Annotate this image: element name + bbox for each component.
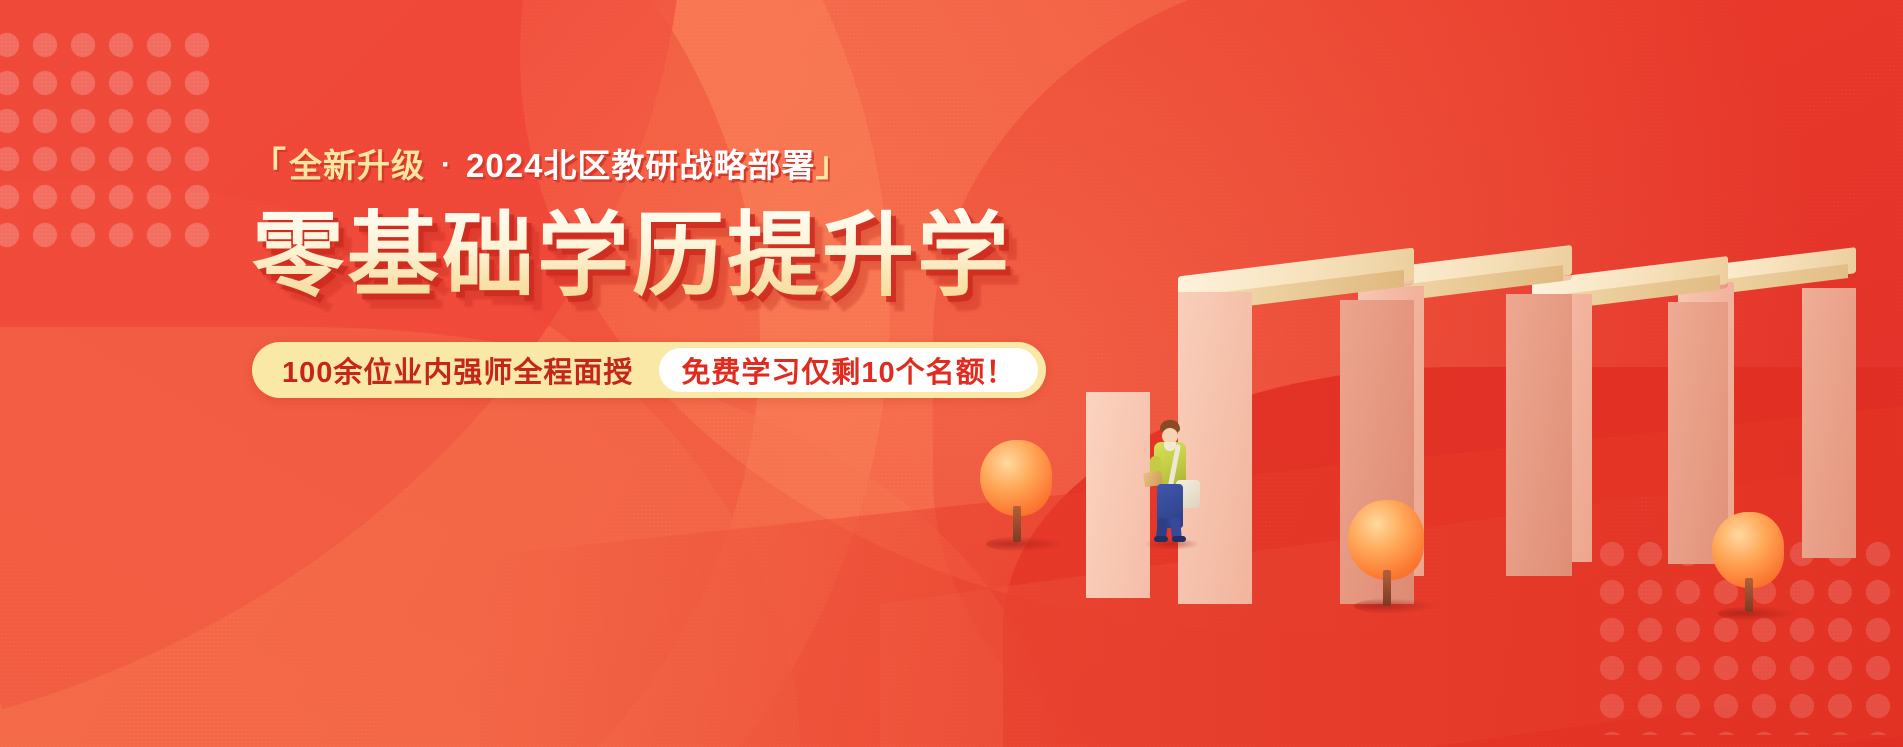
headline-block: 「 全新升级 · 2024北区教研战略部署 」 零基础学历提升学霸班 100余位…	[252, 148, 1012, 398]
subtitle-gold-text: 全新升级	[287, 149, 427, 182]
subtitle-separator: ·	[427, 150, 466, 180]
promo-banner: 「 全新升级 · 2024北区教研战略部署 」 零基础学历提升学霸班 100余位…	[0, 0, 1903, 747]
subtitle-close-bracket: 」	[815, 148, 850, 182]
banner-main-title: 零基础学历提升学霸班	[252, 208, 1012, 306]
subtitle-open-bracket: 「	[252, 148, 287, 182]
highlight-pill: 100余位业内强师全程面授 免费学习仅剩10个名额！	[252, 342, 1046, 398]
pill-right-chip[interactable]: 免费学习仅剩10个名额！	[659, 348, 1037, 392]
subtitle-white-text: 2024北区教研战略部署	[466, 149, 815, 182]
pill-left-label: 100余位业内强师全程面授	[282, 349, 659, 391]
dot-pattern-bottom-right-icon	[1593, 535, 1893, 735]
dot-pattern-top-left-icon	[0, 26, 220, 258]
banner-subtitle: 「 全新升级 · 2024北区教研战略部署 」	[252, 148, 1012, 182]
